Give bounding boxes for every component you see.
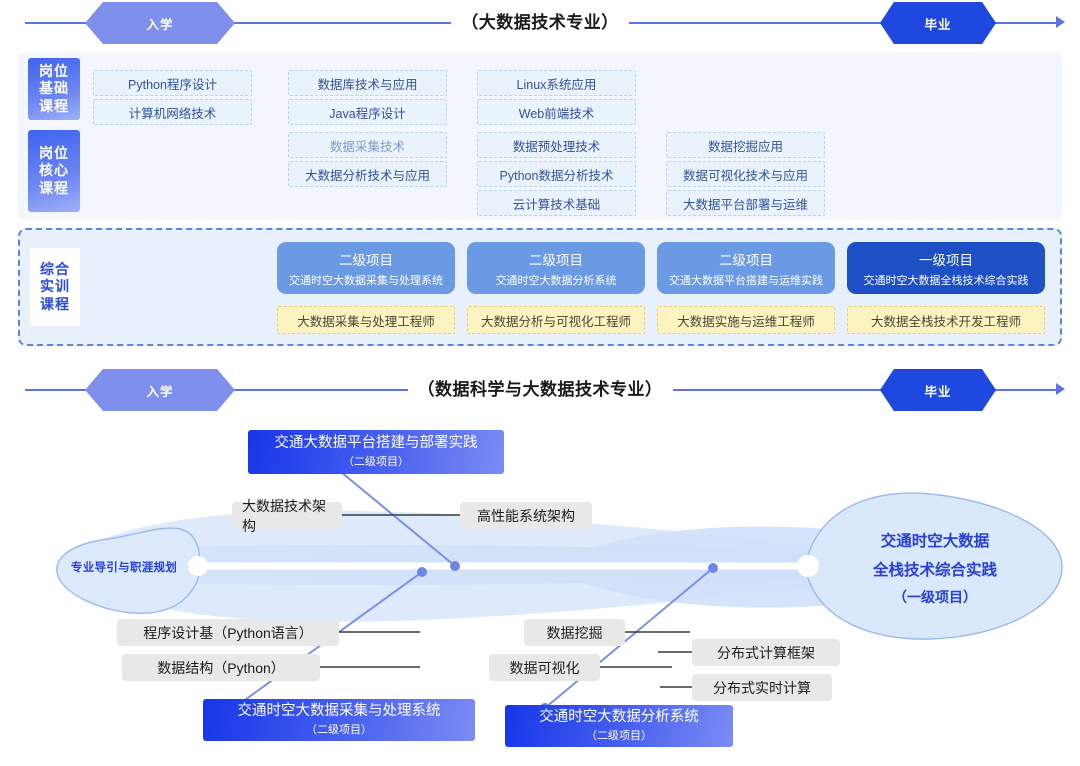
course-chip[interactable]: 大数据平台部署与运维 <box>666 190 825 216</box>
roadmap-project-mid[interactable]: 交通时空大数据分析系统 （二级项目） <box>505 705 733 747</box>
roadmap-project-top[interactable]: 交通大数据平台搭建与部署实践 （二级项目） <box>248 430 504 474</box>
course-chip[interactable]: 数据预处理技术 <box>477 132 636 158</box>
group-tag-training: 综合实训课程 <box>30 248 80 326</box>
project-title: 交通大数据平台搭建与部署实践 <box>275 435 478 452</box>
end-node-line3: （一级项目） <box>830 585 1040 611</box>
skill-chip[interactable]: 大数据技术架构 <box>232 502 342 529</box>
group-tag-core: 岗位核心课程 <box>28 130 80 212</box>
skill-chip[interactable]: 数据挖掘 <box>524 619 625 646</box>
course-chip[interactable]: 数据可视化技术与应用 <box>666 161 825 187</box>
course-chip[interactable]: Linux系统应用 <box>477 70 636 96</box>
course-chip[interactable]: Python程序设计 <box>93 70 252 96</box>
end-node-line2: 全栈技术综合实践 <box>830 557 1040 586</box>
course-chip[interactable]: Python数据分析技术 <box>477 161 636 187</box>
roadmap-start-node-label: 专业导引与职涯规划 <box>51 559 197 575</box>
project-title: 交通时空大数据分析系统 <box>539 709 699 726</box>
course-chip[interactable]: 大数据分析技术与应用 <box>288 161 447 187</box>
project-card[interactable]: 一级项目 交通时空大数据全栈技术综合实践 <box>847 242 1045 294</box>
project-name: 交通时空大数据分析系统 <box>496 272 617 288</box>
skill-chip[interactable]: 分布式实时计算 <box>692 674 832 701</box>
group-tag-foundation: 岗位基础课程 <box>28 58 80 120</box>
timeline-title-1: （大数据技术专业） <box>0 8 1080 33</box>
course-chip[interactable]: 数据库技术与应用 <box>288 70 447 96</box>
infographic-canvas: 入学 毕业 （大数据技术专业） 岗位基础课程 岗位核心课程 Python程序设计… <box>0 0 1080 766</box>
job-tag[interactable]: 大数据分析与可视化工程师 <box>467 306 645 334</box>
course-chip[interactable]: 云计算技术基础 <box>477 190 636 216</box>
job-tag[interactable]: 大数据采集与处理工程师 <box>277 306 455 334</box>
project-level: 二级项目 <box>339 249 393 269</box>
job-tag[interactable]: 大数据全栈技术开发工程师 <box>847 306 1045 334</box>
connector-dot-left <box>417 567 427 577</box>
course-chip[interactable]: 计算机网络技术 <box>93 99 252 125</box>
project-card[interactable]: 二级项目 交通时空大数据采集与处理系统 <box>277 242 455 294</box>
skill-chip[interactable]: 分布式计算框架 <box>692 639 840 666</box>
project-level: 二级项目 <box>529 249 583 269</box>
job-tag[interactable]: 大数据实施与运维工程师 <box>657 306 835 334</box>
timeline-title-text-1: （大数据技术专业） <box>451 13 629 32</box>
roadmap-diagram: 交通大数据平台搭建与部署实践 （二级项目） 交通时空大数据采集与处理系统 （二级… <box>0 415 1080 766</box>
timeline-title-text-2: （数据科学与大数据技术专业） <box>408 380 673 399</box>
course-chip[interactable]: Java程序设计 <box>288 99 447 125</box>
timeline-bar-2: 入学 毕业 （数据科学与大数据技术专业） <box>0 367 1080 413</box>
project-level: （二级项目） <box>306 721 372 737</box>
course-chip[interactable]: 数据挖掘应用 <box>666 132 825 158</box>
project-card[interactable]: 二级项目 交通大数据平台搭建与运维实践 <box>657 242 835 294</box>
end-node-dot <box>797 555 819 577</box>
project-level: 一级项目 <box>919 249 973 269</box>
project-level: （二级项目） <box>343 453 409 469</box>
project-name: 交通时空大数据全栈技术综合实践 <box>864 272 1029 288</box>
course-chip[interactable]: Web前端技术 <box>477 99 636 125</box>
skill-chip[interactable]: 数据可视化 <box>489 654 600 681</box>
roadmap-project-left[interactable]: 交通时空大数据采集与处理系统 （二级项目） <box>203 699 475 741</box>
project-level: （二级项目） <box>586 727 652 743</box>
project-name: 交通时空大数据采集与处理系统 <box>289 272 443 288</box>
project-card[interactable]: 二级项目 交通时空大数据分析系统 <box>467 242 645 294</box>
connector-dot-top <box>450 561 460 571</box>
timeline-title-2: （数据科学与大数据技术专业） <box>0 375 1080 400</box>
project-name: 交通大数据平台搭建与运维实践 <box>669 272 823 288</box>
project-title: 交通时空大数据采集与处理系统 <box>238 703 441 720</box>
timeline-bar-1: 入学 毕业 （大数据技术专业） <box>0 0 1080 46</box>
skill-chip[interactable]: 高性能系统架构 <box>460 502 592 529</box>
project-level: 二级项目 <box>719 249 773 269</box>
roadmap-end-node-label: 交通时空大数据 全栈技术综合实践 （一级项目） <box>830 528 1040 611</box>
skill-chip[interactable]: 数据结构（Python） <box>122 654 320 681</box>
course-chip[interactable]: 数据采集技术 <box>288 132 447 158</box>
connector-dot-mid <box>708 563 718 573</box>
skill-chip[interactable]: 程序设计基（Python语言） <box>117 619 339 646</box>
end-node-line1: 交通时空大数据 <box>830 528 1040 557</box>
